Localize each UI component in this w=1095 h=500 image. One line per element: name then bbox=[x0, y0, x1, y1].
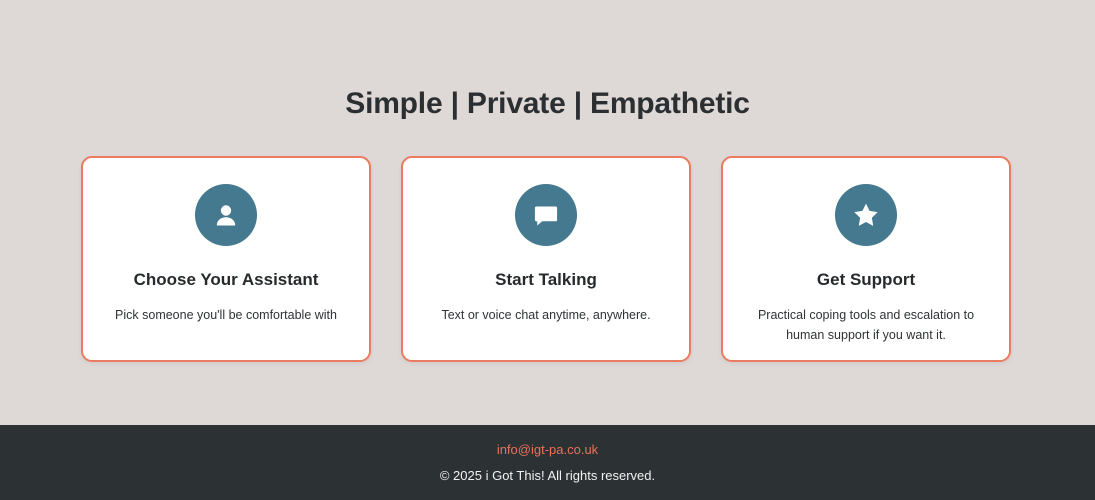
page-title: Simple | Private | Empathetic bbox=[0, 85, 1095, 123]
landing-page: Simple | Private | Empathetic Choose You… bbox=[0, 0, 1095, 500]
feature-card-description: Practical coping tools and escalation to… bbox=[748, 305, 984, 345]
star-icon bbox=[835, 184, 897, 246]
feature-card-choose-your-assistant[interactable]: Choose Your Assistant Pick someone you'l… bbox=[81, 156, 371, 362]
hero-section: Simple | Private | Empathetic Choose You… bbox=[0, 0, 1095, 425]
feature-card-title: Choose Your Assistant bbox=[134, 270, 319, 290]
feature-card-description: Text or voice chat anytime, anywhere. bbox=[428, 305, 664, 325]
footer-email-link[interactable]: info@igt-pa.co.uk bbox=[497, 442, 598, 458]
feature-card-title: Get Support bbox=[817, 270, 915, 290]
feature-card-title: Start Talking bbox=[495, 270, 597, 290]
feature-card-description: Pick someone you'll be comfortable with bbox=[108, 305, 344, 325]
page-footer: info@igt-pa.co.uk © 2025 i Got This! All… bbox=[0, 425, 1095, 500]
footer-copyright: © 2025 i Got This! All rights reserved. bbox=[440, 468, 655, 484]
feature-card-get-support[interactable]: Get Support Practical coping tools and e… bbox=[721, 156, 1011, 362]
feature-cards: Choose Your Assistant Pick someone you'l… bbox=[81, 156, 1011, 362]
feature-card-start-talking[interactable]: Start Talking Text or voice chat anytime… bbox=[401, 156, 691, 362]
chat-bubble-icon bbox=[515, 184, 577, 246]
person-icon bbox=[195, 184, 257, 246]
